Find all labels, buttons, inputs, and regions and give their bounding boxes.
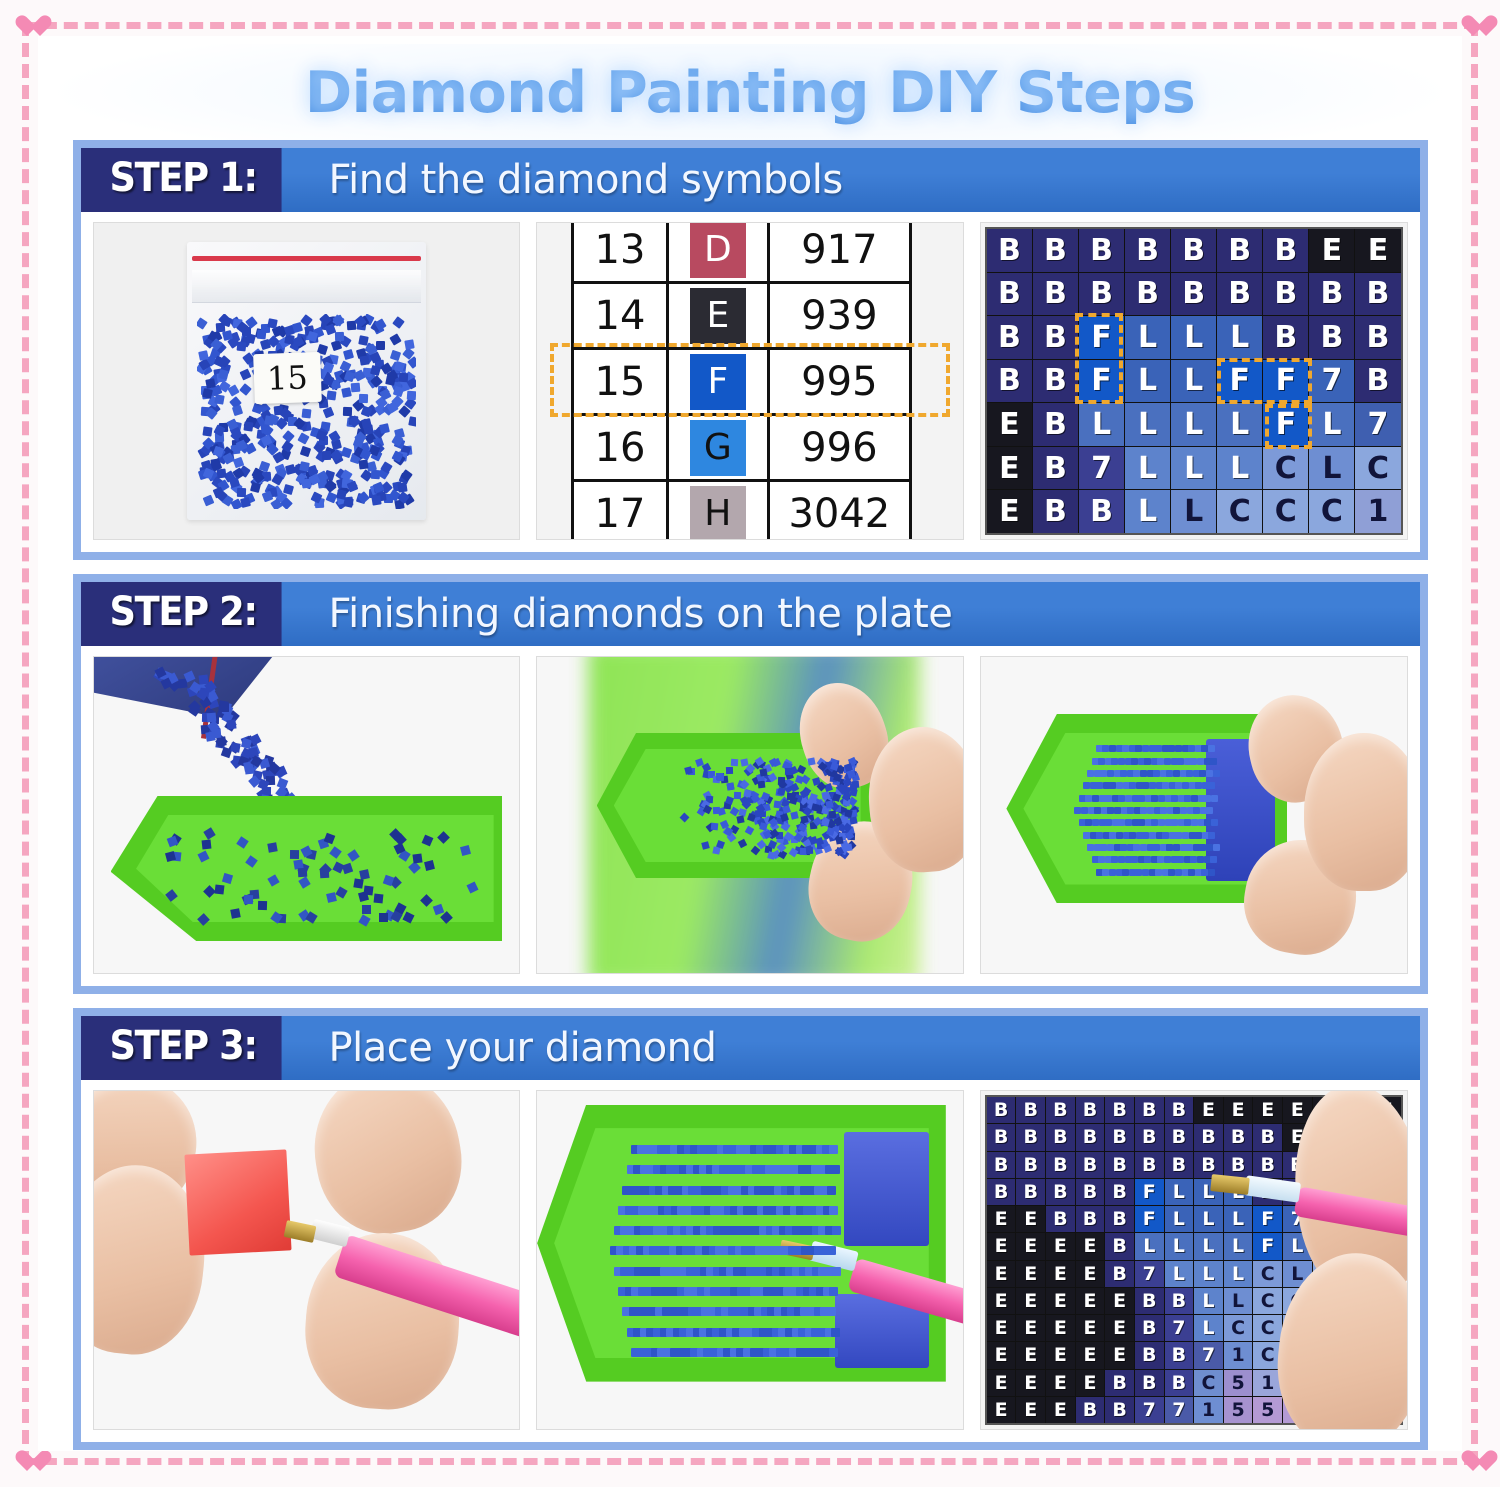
tray-diamond [736, 816, 744, 824]
tray-diamond [460, 845, 471, 856]
tray-diamond [772, 758, 781, 767]
placed-diamond [829, 1348, 838, 1357]
placed-diamond [1116, 782, 1123, 789]
grid-cell: B [1263, 273, 1308, 316]
grid-cell: E [1076, 1342, 1105, 1368]
tray-diamond [759, 768, 767, 776]
tray-diamond [203, 885, 216, 898]
grid-cell: B [1105, 1370, 1134, 1396]
diamond-bead [215, 394, 225, 404]
wax-pen-photo [93, 1090, 521, 1430]
grid-cell: 7 [1309, 360, 1354, 403]
grid-cell: E [987, 1370, 1016, 1396]
placed-diamond [1107, 770, 1114, 777]
tray-diamond [780, 813, 789, 822]
diamond-bead [350, 383, 360, 393]
grid-cell: B [1171, 273, 1216, 316]
diamond-bead [250, 482, 261, 493]
grid-cell: 7 [1165, 1397, 1194, 1423]
placed-diamond [1092, 819, 1099, 826]
tray-diamond [801, 775, 811, 785]
grid-cell: B [987, 229, 1032, 272]
diamond-bead [302, 409, 312, 419]
placed-diamond [1125, 795, 1132, 802]
grid-cell: E [1046, 1397, 1075, 1423]
diamond-bead [358, 460, 368, 470]
placed-diamond [1182, 782, 1189, 789]
placed-diamond [829, 1206, 838, 1215]
grid-cell: B [1125, 229, 1170, 272]
grid-cell: L [1171, 447, 1216, 490]
tray-diamond [424, 861, 435, 872]
grid-cell: E [987, 1315, 1016, 1341]
grid-cell: E [1076, 1370, 1105, 1396]
diamond-bead [323, 407, 335, 419]
tray-diamond [790, 811, 798, 819]
tray-diamond [320, 869, 330, 879]
grid-cell: E [987, 1342, 1016, 1368]
chart-row-symbol: E [667, 283, 768, 349]
grid-cell: B [1135, 1342, 1164, 1368]
diamond-bead [343, 407, 352, 416]
tray-diamond [789, 765, 798, 774]
grid-cell: B [1309, 273, 1354, 316]
placed-diamond [1175, 869, 1182, 876]
bag-number-label: 15 [253, 352, 321, 404]
placed-diamond [1116, 832, 1123, 839]
grid-cell: B [1046, 1206, 1075, 1232]
pen-tip [309, 1218, 351, 1247]
tray-diamond [787, 793, 794, 800]
grid-cell: B [1105, 1179, 1134, 1205]
tray-diamond [755, 810, 763, 818]
tray-diamond [165, 889, 178, 902]
aligned-diamonds-photo [980, 656, 1408, 974]
table-row: 16G996 [573, 415, 911, 481]
grid-cell: E [1076, 1233, 1105, 1259]
tray-diamond [244, 894, 253, 903]
grid-cell: B [987, 1097, 1016, 1123]
poster-card: Diamond Painting DIY Steps STEP 1: Find … [38, 36, 1462, 1451]
diamond-bead [197, 317, 208, 329]
diamond-bead [389, 334, 401, 346]
grid-cell: L [1194, 1261, 1223, 1287]
tray-diamond [680, 813, 690, 823]
diamond-bead [393, 386, 404, 397]
grid-cell: E [1046, 1315, 1075, 1341]
tray-diamond [422, 834, 434, 846]
diamond-bead [240, 369, 252, 381]
tray-diamond [342, 862, 353, 873]
grid-cell: E [1355, 229, 1400, 272]
grid-cell: E [1253, 1097, 1282, 1123]
red-wax-block [185, 1149, 292, 1256]
grid-cell: L [1194, 1288, 1223, 1314]
placed-diamond [1208, 745, 1215, 752]
tray-diamond [701, 841, 710, 850]
placed-diamond [1142, 745, 1149, 752]
pick-diamond-photo [536, 1090, 964, 1430]
grid-cell: B [1033, 403, 1078, 446]
grid-cell: B [1076, 1124, 1105, 1150]
placed-diamond [829, 1145, 838, 1154]
grid-cell: L [1217, 447, 1262, 490]
grid-cell: E [1309, 229, 1354, 272]
tray-diamond [222, 873, 233, 884]
tray-diamond [773, 800, 781, 808]
placed-diamond [1118, 758, 1125, 765]
placed-diamond [1208, 869, 1215, 876]
grid-cell: B [1076, 1397, 1105, 1423]
chart-row-code: 939 [768, 283, 910, 349]
color-code-table: 13D91714E93915F99516G99617H3042 [571, 222, 912, 540]
grid-cell: B [987, 316, 1032, 359]
tray-diamond [236, 837, 248, 849]
grid-cell: E [1016, 1342, 1045, 1368]
grid-cell: F [1217, 360, 1262, 403]
grid-cell: C [1253, 1288, 1282, 1314]
grid-cell: C [1253, 1315, 1282, 1341]
placed-diamond [1210, 758, 1217, 765]
table-row: 13D917 [573, 222, 911, 283]
grid-cell: B [1105, 1124, 1134, 1150]
grid-cell: B [1135, 1288, 1164, 1314]
grid-cell: B [1046, 1152, 1075, 1178]
canvas-grid-photo: BBBBBBBEEEEEEEBBBBBBBBBBEEBBBBBBBBBBBBBB… [980, 1090, 1408, 1430]
diamond-bead [372, 495, 382, 505]
shake-tray-photo [536, 656, 964, 974]
step-2-title: Finishing diamonds on the plate [299, 582, 1420, 646]
grid-cell: B [987, 360, 1032, 403]
grid-cell: B [1033, 273, 1078, 316]
grid-cell: 1 [1224, 1342, 1253, 1368]
bag-seal [192, 270, 421, 303]
tray-diamond [267, 875, 279, 887]
grid-cell: B [1165, 1370, 1194, 1396]
placed-diamond [1140, 770, 1147, 777]
chart-row-number: 14 [573, 283, 668, 349]
chart-row-symbol: D [667, 222, 768, 283]
grid-cell: F [1135, 1206, 1164, 1232]
tray-diamond [326, 892, 337, 903]
placed-diamond [831, 1328, 840, 1337]
diamond-bead [390, 350, 401, 361]
grid-cell: B [1217, 273, 1262, 316]
grid-cell: E [1016, 1288, 1045, 1314]
grid-cell: 5 [1224, 1370, 1253, 1396]
grid-cell: 7 [1165, 1315, 1194, 1341]
bag-zip-strip [192, 256, 421, 261]
placed-diamond [1142, 869, 1149, 876]
tray-diamond [373, 894, 383, 904]
diamond-bead [392, 316, 405, 329]
step-3-header: STEP 3: Place your diamond [81, 1016, 1420, 1080]
grid-cell: B [1224, 1152, 1253, 1178]
tray-diamond [421, 894, 434, 907]
tray-diamond [716, 774, 723, 781]
table-row: 14E939 [573, 283, 911, 349]
grid-cell: L [1125, 403, 1170, 446]
tray-diamond [437, 831, 450, 844]
grid-cell: B [1309, 316, 1354, 359]
placed-diamond [1180, 807, 1187, 814]
diamond-bead [243, 422, 253, 432]
diamond-bead [408, 416, 416, 427]
tray-diamond [201, 840, 211, 850]
grid-cell: F [1263, 360, 1308, 403]
grid-cell: B [1165, 1097, 1194, 1123]
placed-diamond [827, 1246, 836, 1255]
heart-icon-bottom-right [1460, 1449, 1486, 1473]
grid-cell: B [1171, 229, 1216, 272]
diamond-bead [379, 423, 390, 434]
color-chart-table: 13D91714E93915F99516G99617H3042 [536, 222, 964, 540]
placed-diamond [1191, 795, 1198, 802]
grid-cell: E [1016, 1261, 1045, 1287]
step-3-title: Place your diamond [299, 1016, 1420, 1080]
grid-cell: B [1165, 1124, 1194, 1150]
grid-cell: B [1105, 1233, 1134, 1259]
tray-diamond [335, 886, 347, 898]
grid-cell: L [1194, 1315, 1223, 1341]
tray-diamond [245, 855, 258, 868]
placed-diamond [1109, 869, 1116, 876]
grid-cell: C [1263, 490, 1308, 533]
grid-cell: 5 [1253, 1397, 1282, 1423]
grid-cell: L [1194, 1233, 1223, 1259]
grid-cell: L [1194, 1206, 1223, 1232]
diamond-bead [202, 495, 214, 507]
placed-diamond [1149, 832, 1156, 839]
grid-cell: B [1033, 360, 1078, 403]
tray-diamond [835, 836, 843, 844]
placed-diamond [829, 1287, 838, 1296]
grid-cell: B [1046, 1124, 1075, 1150]
placed-diamond [1210, 856, 1217, 863]
grid-cell: B [1194, 1124, 1223, 1150]
grid-cell: E [987, 447, 1032, 490]
grid-cell: B [1355, 316, 1400, 359]
grid-cell: E [987, 1261, 1016, 1287]
grid-cell: L [1165, 1179, 1194, 1205]
grid-cell: L [1125, 360, 1170, 403]
grid-cell: B [1105, 1097, 1134, 1123]
grid-cell: B [1016, 1179, 1045, 1205]
grid-cell: B [987, 1124, 1016, 1150]
placed-diamond [1208, 782, 1215, 789]
grid-cell: F [1135, 1179, 1164, 1205]
tray-diamond [466, 882, 478, 894]
placed-diamond [1173, 844, 1180, 851]
grid-cell: B [1165, 1342, 1194, 1368]
tray-diamond [731, 758, 738, 765]
diamond-bead [291, 322, 302, 333]
grid-cell: B [1079, 273, 1124, 316]
grid-cell: B [1046, 1097, 1075, 1123]
grid-cell: B [1016, 1152, 1045, 1178]
diamond-bead [407, 390, 416, 400]
placed-diamond [1173, 770, 1180, 777]
placed-diamond [1083, 782, 1090, 789]
grid-cell: B [1253, 1124, 1282, 1150]
diamond-bead [264, 415, 275, 426]
grid-cell: L [1224, 1261, 1253, 1287]
step-1-badge: STEP 1: [81, 148, 282, 212]
placed-diamond [1211, 819, 1218, 826]
grid-cell: B [1105, 1206, 1134, 1232]
step-block-3: STEP 3: Place your diamond [73, 1008, 1428, 1450]
grid-cell: B [1076, 1206, 1105, 1232]
chart-row-code: 917 [768, 222, 910, 283]
grid-cell: B [1165, 1288, 1194, 1314]
grid-cell: E [1046, 1288, 1075, 1314]
step-3-badge: STEP 3: [81, 1016, 282, 1080]
tray-diamond [730, 807, 740, 817]
tray-diamond [215, 885, 225, 895]
grid-cell: B [1355, 273, 1400, 316]
placed-diamond [1158, 795, 1165, 802]
tray-diamond [358, 914, 370, 926]
placed-diamond [1206, 807, 1213, 814]
chart-row-code: 3042 [768, 481, 910, 541]
diamond-bead [256, 329, 266, 339]
step-1-title: Find the diamond symbols [299, 148, 1420, 212]
grid-cell: B [1079, 229, 1124, 272]
diamond-bead [343, 349, 354, 360]
symbol-grid-closeup: BBBBBBBEEBBBBBBBBBBBFLLLBBBBBFLLFF7BEBLL… [980, 222, 1408, 540]
tray-diamond [363, 885, 373, 895]
chart-row-code: 996 [768, 415, 910, 481]
grid-cell: L [1217, 403, 1262, 446]
grid-cell: F [1079, 360, 1124, 403]
step-1-body: 15 13D91714E93915F99516G99617H3042 BBBBB… [81, 212, 1420, 552]
diamond-bead [202, 426, 212, 436]
grid-cell: B [987, 1152, 1016, 1178]
diamond-bead [260, 424, 270, 434]
grid-cell: F [1253, 1206, 1282, 1232]
grid-cell: L [1309, 403, 1354, 446]
diamond-bead [404, 339, 414, 349]
tray-diamond [745, 826, 755, 836]
grid-cell: E [1016, 1370, 1045, 1396]
tray-diamond [413, 853, 423, 863]
grid-cell: C [1309, 490, 1354, 533]
diamond-bead [199, 350, 210, 361]
pour-diamonds-photo [93, 656, 521, 974]
grid-cell: E [1046, 1370, 1075, 1396]
grid-cell: 1 [1194, 1397, 1223, 1423]
grid-cell: C [1253, 1261, 1282, 1287]
grid-cell: F [1079, 316, 1124, 359]
grid-cell: E [1105, 1288, 1134, 1314]
placed-diamond [1107, 844, 1114, 851]
grid-cell: B [1105, 1397, 1134, 1423]
placed-diamond [1140, 844, 1147, 851]
tray-diamond [726, 767, 733, 774]
tray-diamond [851, 781, 859, 789]
placed-diamond [1182, 832, 1189, 839]
diamond-bag-photo: 15 [93, 222, 521, 540]
placed-diamond [1175, 745, 1182, 752]
tray-diamond [354, 879, 364, 889]
grid-cell: B [1105, 1261, 1134, 1287]
grid-cell: B [1253, 1152, 1282, 1178]
chart-row-symbol: H [667, 481, 768, 541]
diamond-bead [370, 365, 381, 376]
diamond-beads [197, 314, 416, 509]
tray-diamond [726, 782, 734, 790]
grid-cell: E [1076, 1288, 1105, 1314]
step-2-header: STEP 2: Finishing diamonds on the plate [81, 582, 1420, 646]
grid-cell: E [1046, 1261, 1075, 1287]
grid-cell: B [1125, 273, 1170, 316]
grid-cell: B [1165, 1152, 1194, 1178]
diamond-bead [297, 433, 309, 445]
grid-cell: B [1033, 490, 1078, 533]
grid-cell: B [1016, 1097, 1045, 1123]
heart-icon-top-left [14, 14, 40, 38]
placed-diamond [832, 1226, 841, 1235]
tray-diamond [198, 913, 211, 926]
grid-cell: C [1263, 447, 1308, 490]
grid-cell: E [987, 1206, 1016, 1232]
placed-diamond [1191, 819, 1198, 826]
grid-cell: E [1046, 1342, 1075, 1368]
grid-cell: E [987, 1397, 1016, 1423]
grid-cell: E [1016, 1233, 1045, 1259]
grid-cell: B [987, 273, 1032, 316]
grid-cell: L [1224, 1233, 1253, 1259]
diamond-bead [283, 484, 294, 495]
grid-cell: B [1033, 229, 1078, 272]
grid-cell: L [1171, 360, 1216, 403]
table-row: 17H3042 [573, 481, 911, 541]
diamond-bead [359, 394, 368, 403]
tray-diamond [828, 811, 836, 819]
tray-diamond [807, 758, 815, 766]
grid-cell: E [1016, 1397, 1045, 1423]
grid-cell: B [1016, 1124, 1045, 1150]
tray-diamond [711, 823, 719, 831]
grid-cell: E [1076, 1261, 1105, 1287]
grid-cell: 5 [1224, 1397, 1253, 1423]
grid-cell: E [1105, 1315, 1134, 1341]
diamond-bead [347, 481, 359, 493]
diamond-bead [216, 468, 226, 478]
tray-diamond [258, 901, 267, 910]
grid-cell: 7 [1194, 1342, 1223, 1368]
diamond-bead [218, 369, 229, 380]
diamond-bead [360, 355, 370, 365]
grid-cell: E [1076, 1315, 1105, 1341]
grid-cell: E [987, 1288, 1016, 1314]
grid-cell: F [1253, 1233, 1282, 1259]
title-banner: Diamond Painting DIY Steps [54, 44, 1446, 140]
grid-cell: L [1125, 316, 1170, 359]
placed-diamond [827, 1186, 836, 1195]
placed-diamond [1092, 795, 1099, 802]
step-1-header: STEP 1: Find the diamond symbols [81, 148, 1420, 212]
grid-cell: F [1263, 403, 1308, 446]
diamond-bead [232, 405, 243, 416]
grid-cell: L [1165, 1206, 1194, 1232]
placed-diamond [1208, 832, 1215, 839]
grid-cell: B [1263, 229, 1308, 272]
grid-cell: L [1171, 490, 1216, 533]
grid-cell: C [1217, 490, 1262, 533]
placed-diamond [831, 1165, 840, 1174]
grid-cell: L [1165, 1261, 1194, 1287]
